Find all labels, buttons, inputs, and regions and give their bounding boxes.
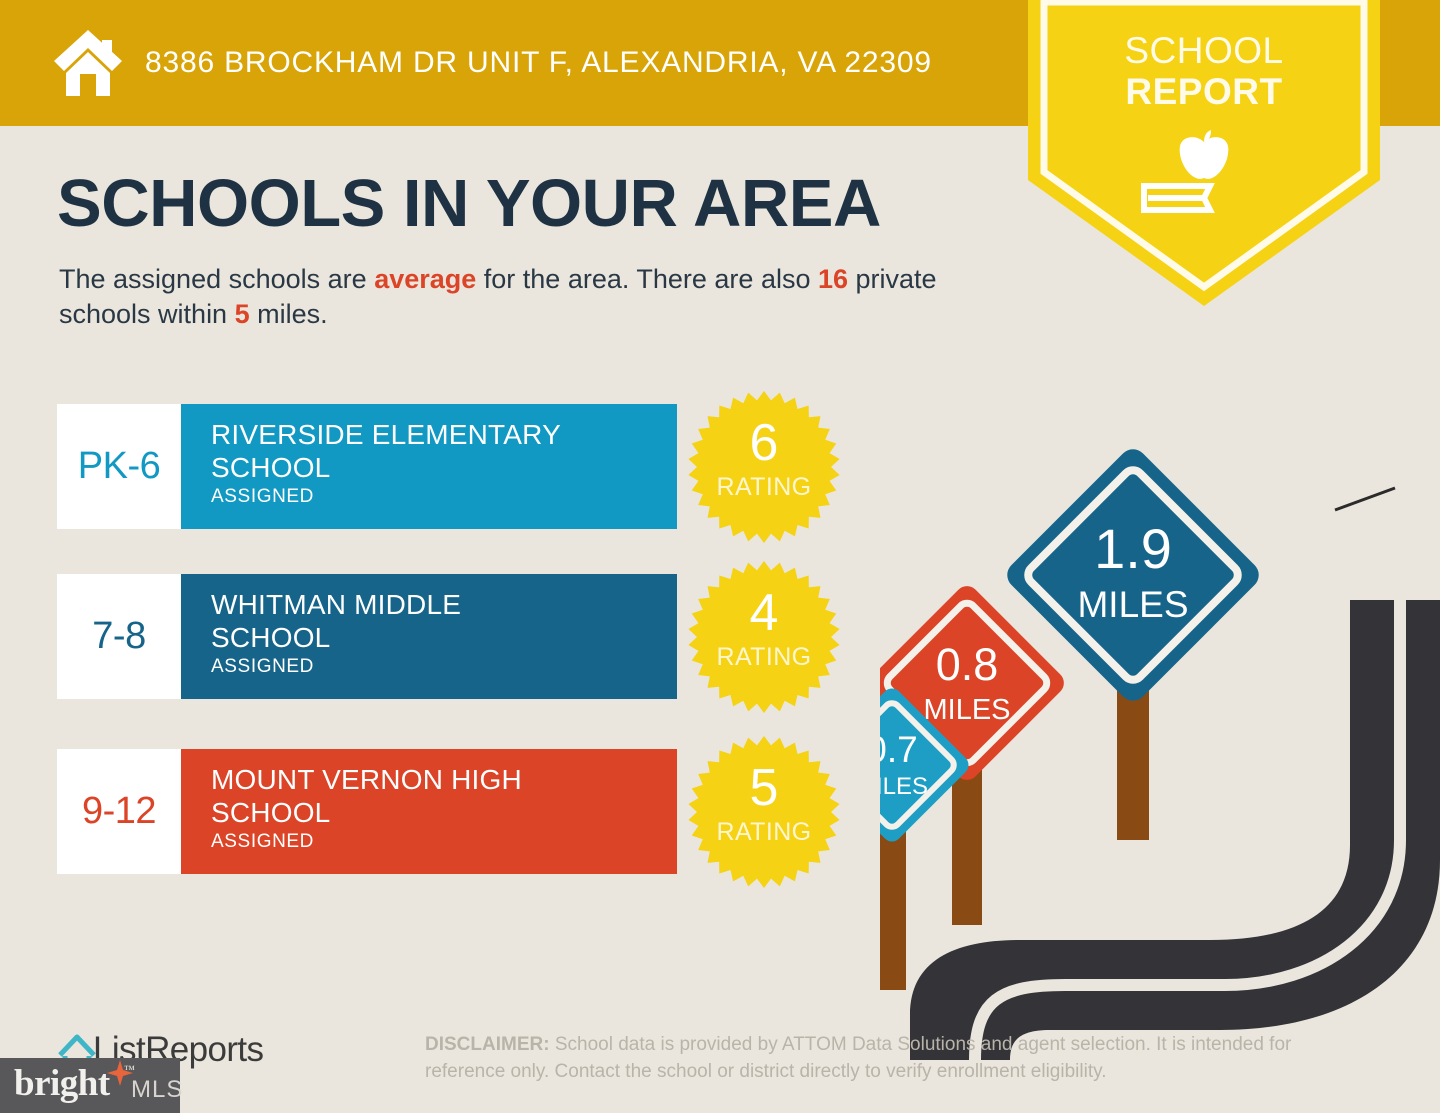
rating-value: 4 bbox=[688, 587, 840, 639]
page-title: SCHOOLS IN YOUR AREA bbox=[57, 168, 881, 240]
bright-trademark: ™ bbox=[124, 1064, 135, 1076]
disclaimer-text: DISCLAIMER: School data is provided by A… bbox=[425, 1031, 1370, 1085]
rating-starburst: 5 RATING bbox=[688, 736, 840, 888]
distance-sign-3-unit: MILES bbox=[1077, 584, 1188, 625]
school-report-badge: SCHOOL REPORT bbox=[1028, 0, 1380, 306]
school-name-line-2: SCHOOL bbox=[211, 796, 677, 829]
school-row[interactable]: 7-8 WHITMAN MIDDLE SCHOOL ASSIGNED 4 RAT… bbox=[57, 574, 677, 699]
disclaimer-body: School data is provided by ATTOM Data So… bbox=[425, 1034, 1291, 1082]
school-name-line-1: MOUNT VERNON HIGH bbox=[211, 763, 677, 796]
school-name-line-2: SCHOOL bbox=[211, 621, 677, 654]
bright-wordmark: bright bbox=[14, 1062, 110, 1105]
rating-starburst: 6 RATING bbox=[688, 391, 840, 543]
rating-value: 5 bbox=[688, 762, 840, 814]
school-report-infographic: 8386 BROCKHAM DR UNIT F, ALEXANDRIA, VA … bbox=[0, 0, 1440, 1113]
subtitle-highlight-average: average bbox=[374, 264, 476, 294]
distance-sign-3-value: 1.9 bbox=[1094, 517, 1172, 580]
grade-range-box: PK-6 bbox=[57, 404, 181, 529]
distance-sign-1-value: 0.7 bbox=[880, 729, 918, 770]
grade-range-label: PK-6 bbox=[78, 445, 160, 488]
school-info-box: WHITMAN MIDDLE SCHOOL ASSIGNED bbox=[181, 574, 677, 699]
school-info-box: RIVERSIDE ELEMENTARY SCHOOL ASSIGNED bbox=[181, 404, 677, 529]
rating-starburst: 4 RATING bbox=[688, 561, 840, 713]
subtitle: The assigned schools are average for the… bbox=[59, 262, 1019, 332]
subtitle-highlight-radius: 5 bbox=[235, 299, 250, 329]
grade-range-label: 7-8 bbox=[92, 615, 145, 658]
mls-wordmark: MLS bbox=[131, 1076, 183, 1104]
rating-value: 6 bbox=[688, 417, 840, 469]
rating-label: RATING bbox=[688, 473, 840, 502]
grade-range-label: 9-12 bbox=[82, 790, 156, 833]
school-name-line-1: RIVERSIDE ELEMENTARY bbox=[211, 418, 677, 451]
school-row[interactable]: 9-12 MOUNT VERNON HIGH SCHOOL ASSIGNED 5… bbox=[57, 749, 677, 874]
assigned-badge: ASSIGNED bbox=[211, 831, 677, 853]
subtitle-highlight-count: 16 bbox=[818, 264, 848, 294]
property-address: 8386 BROCKHAM DR UNIT F, ALEXANDRIA, VA … bbox=[145, 46, 932, 80]
subtitle-part-2: for the area. There are also bbox=[476, 264, 818, 294]
school-name-line-1: WHITMAN MIDDLE bbox=[211, 588, 677, 621]
subtitle-part-1: The assigned schools are bbox=[59, 264, 374, 294]
distance-sign-2-value: 0.8 bbox=[936, 639, 999, 690]
subtitle-part-4: miles. bbox=[250, 299, 328, 329]
school-info-box: MOUNT VERNON HIGH SCHOOL ASSIGNED bbox=[181, 749, 677, 874]
assigned-badge: ASSIGNED bbox=[211, 486, 677, 508]
rating-label: RATING bbox=[688, 818, 840, 847]
grade-range-box: 7-8 bbox=[57, 574, 181, 699]
school-name-line-2: SCHOOL bbox=[211, 451, 677, 484]
grade-range-box: 9-12 bbox=[57, 749, 181, 874]
assigned-badge: ASSIGNED bbox=[211, 656, 677, 678]
disclaimer-label: DISCLAIMER: bbox=[425, 1034, 550, 1055]
distance-sign-1-unit: MILES bbox=[880, 773, 928, 800]
sign-antenna-line bbox=[1335, 488, 1395, 510]
distance-sign-2-unit: MILES bbox=[923, 694, 1010, 726]
rating-label: RATING bbox=[688, 643, 840, 672]
home-icon bbox=[52, 28, 124, 98]
road-with-distance-signs: 1.9 MILES 0.8 MILES 0.7 MILES bbox=[880, 440, 1440, 1060]
school-row[interactable]: PK-6 RIVERSIDE ELEMENTARY SCHOOL ASSIGNE… bbox=[57, 404, 677, 529]
